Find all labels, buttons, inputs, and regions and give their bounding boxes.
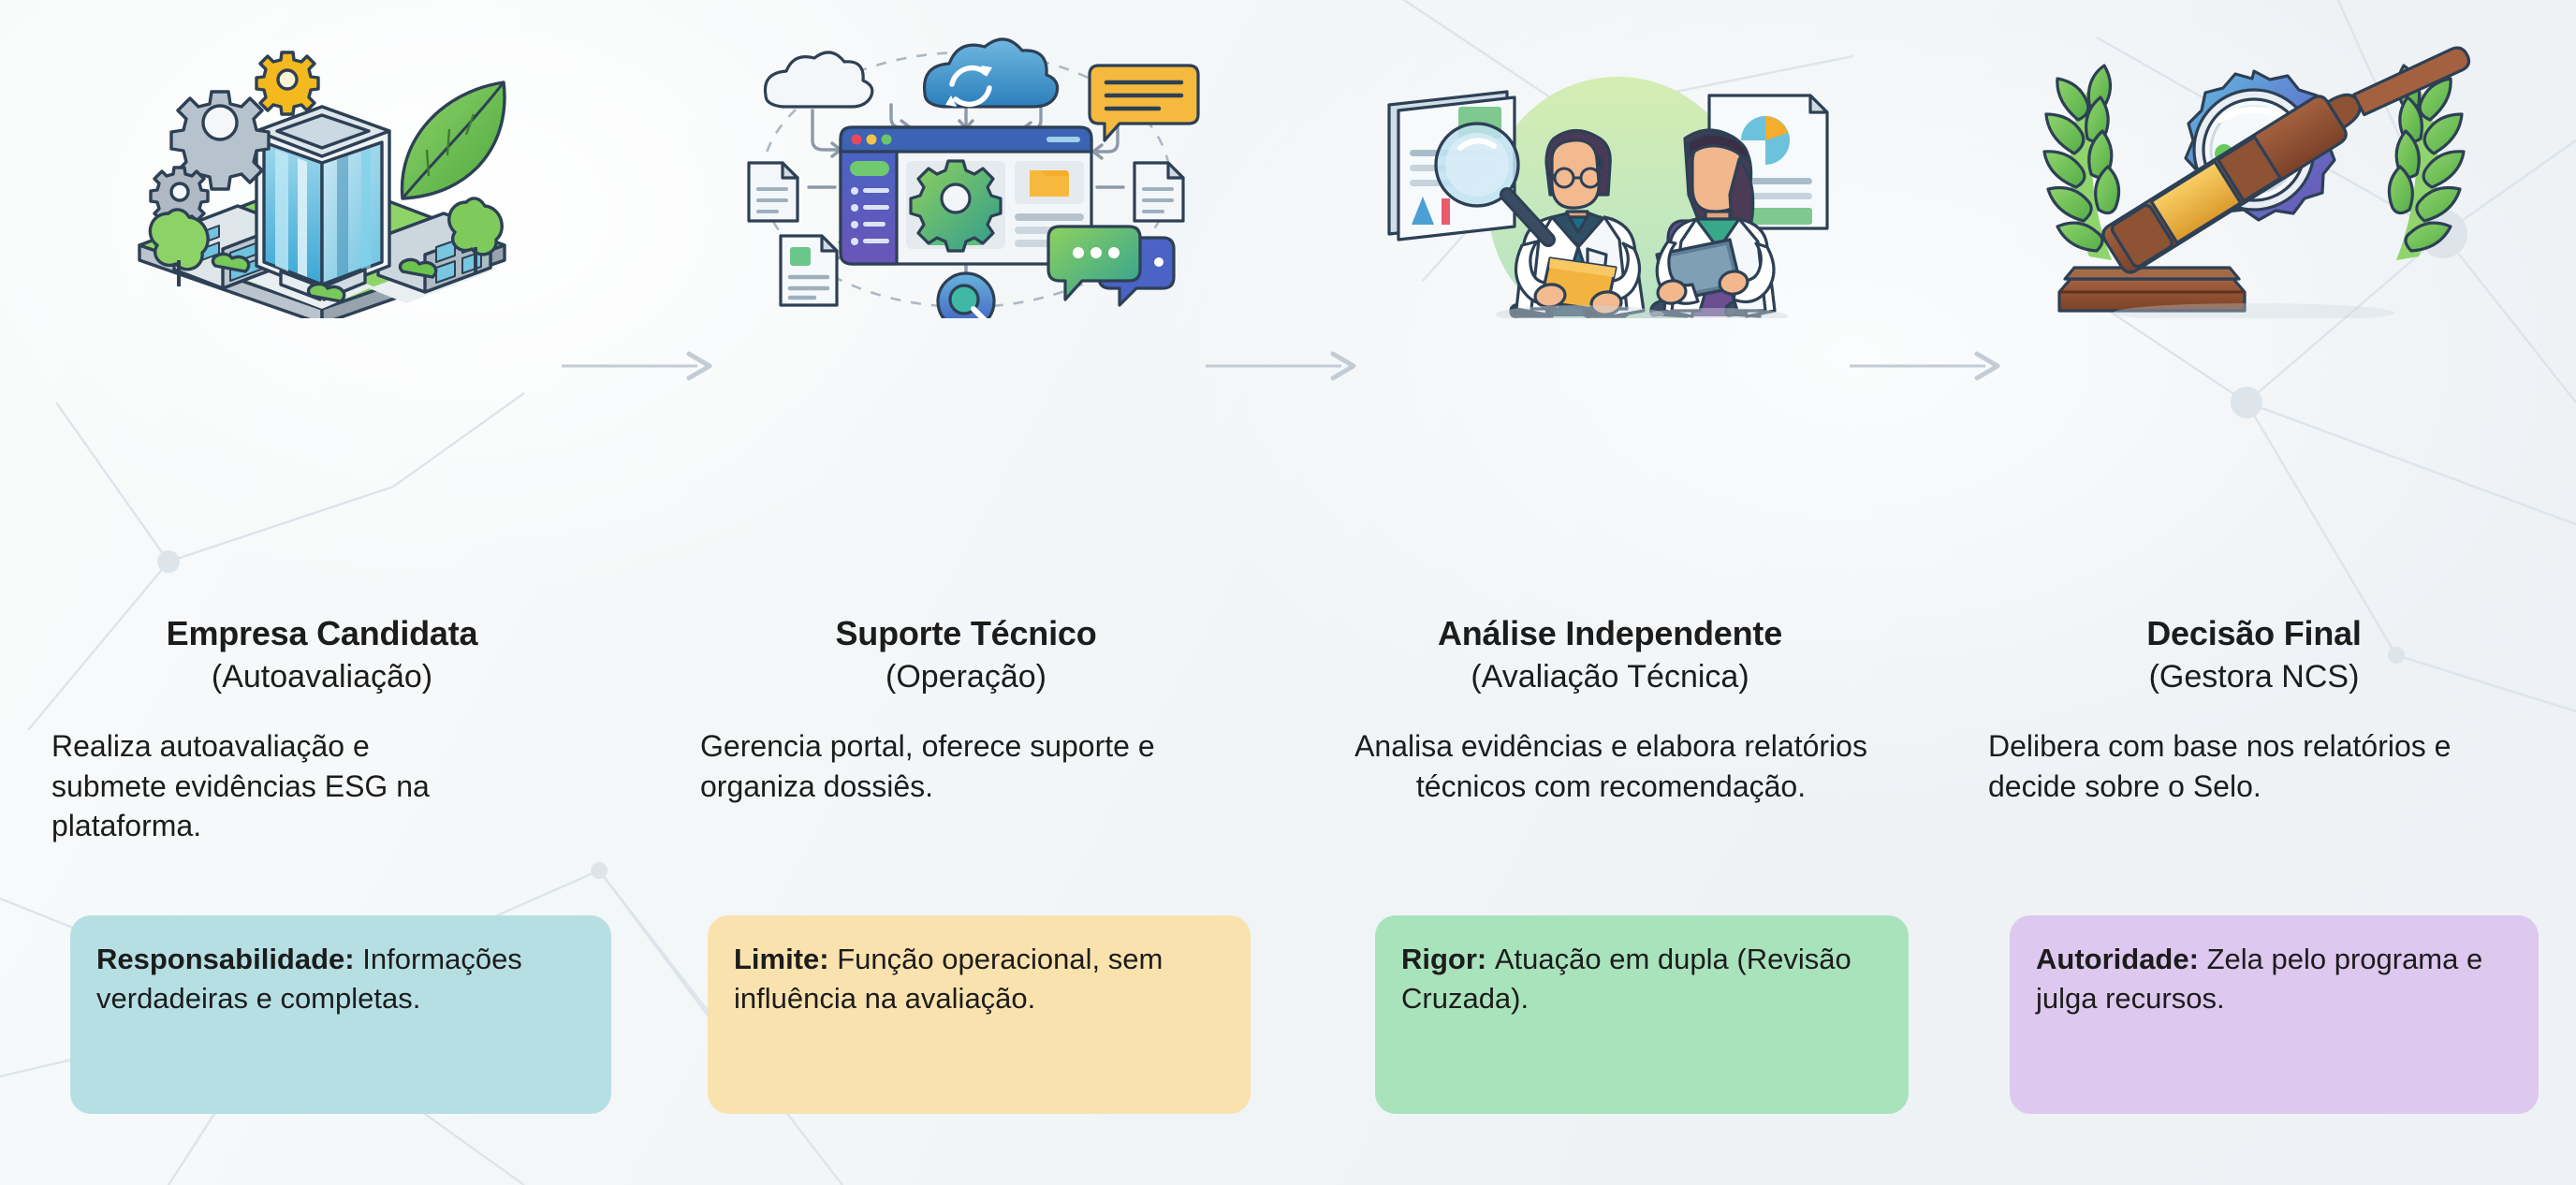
support-portal-platform-icon [644, 37, 1288, 318]
step-subheading: (Gestora NCS) [1932, 659, 2576, 695]
step-badge: Autoridade: Zela pelo programa e julga r… [2010, 915, 2539, 1114]
step-heading: Empresa Candidata [0, 614, 644, 653]
step-card-suporte-tecnico: Suporte Técnico (Operação) Gerencia port… [644, 0, 1288, 1185]
step-description: Realiza autoavaliação e submete evidênci… [51, 726, 491, 846]
step-card-analise-independente: Análise Independente (Avaliação Técnica)… [1288, 0, 1932, 1185]
two-analysts-review-icon [1288, 37, 1932, 318]
gavel-certification-seal-icon [1932, 37, 2576, 318]
step-description: Delibera com base nos relatórios e decid… [1988, 726, 2475, 806]
step-description: Gerencia portal, oferece suporte e organ… [700, 726, 1168, 806]
step-card-decisao-final: Decisão Final (Gestora NCS) Delibera com… [1932, 0, 2576, 1185]
step-badge-label: Limite: [734, 943, 837, 975]
step-subheading: (Autoavaliação) [0, 659, 644, 695]
step-card-empresa-candidata: Empresa Candidata (Autoavaliação) Realiz… [0, 0, 644, 1185]
step-badge: Rigor: Atuação em dupla (Revisão Cruzada… [1375, 915, 1909, 1114]
step-badge-label: Autoridade: [2036, 943, 2207, 975]
step-badge-label: Responsabilidade: [96, 943, 362, 975]
step-heading: Análise Independente [1288, 614, 1932, 653]
step-badge-label: Rigor: [1401, 943, 1495, 975]
step-heading: Decisão Final [1932, 614, 2576, 653]
step-badge: Responsabilidade: Informações verdadeira… [70, 915, 611, 1114]
step-subheading: (Avaliação Técnica) [1288, 659, 1932, 695]
corporate-building-esg-icon [0, 37, 644, 318]
step-description: Analisa evidências e elabora relatórios … [1325, 726, 1896, 806]
flow-stage: Empresa Candidata (Autoavaliação) Realiz… [0, 0, 2576, 1185]
step-subheading: (Operação) [644, 659, 1288, 695]
step-badge: Limite: Função operacional, sem influênc… [708, 915, 1251, 1114]
step-heading: Suporte Técnico [644, 614, 1288, 653]
